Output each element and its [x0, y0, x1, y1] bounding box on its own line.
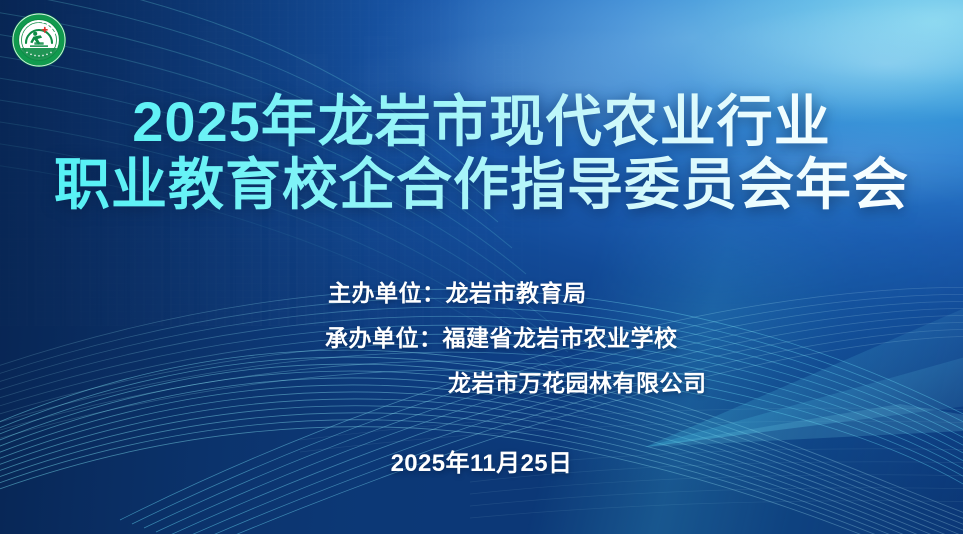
event-date: 2025年11月25日	[0, 449, 963, 479]
banner-title-line-2: 职业教育校企合作指导委员会年会	[0, 155, 963, 215]
conference-banner: 2025年龙岩市现代农业行业 职业教育校企合作指导委员会年会 主办单位：龙岩市教…	[0, 0, 963, 534]
banner-title-line-1: 2025年龙岩市现代农业行业	[0, 92, 963, 152]
organizer-coordinator: 承办单位：福建省龙岩市农业学校	[325, 323, 678, 353]
banner-content: 2025年龙岩市现代农业行业 职业教育校企合作指导委员会年会 主办单位：龙岩市教…	[0, 0, 963, 534]
school-emblem-icon	[11, 12, 67, 68]
organizer-host: 主办单位：龙岩市教育局	[328, 278, 587, 308]
organizer-cocoordinator: 龙岩市万花园林有限公司	[448, 368, 707, 398]
